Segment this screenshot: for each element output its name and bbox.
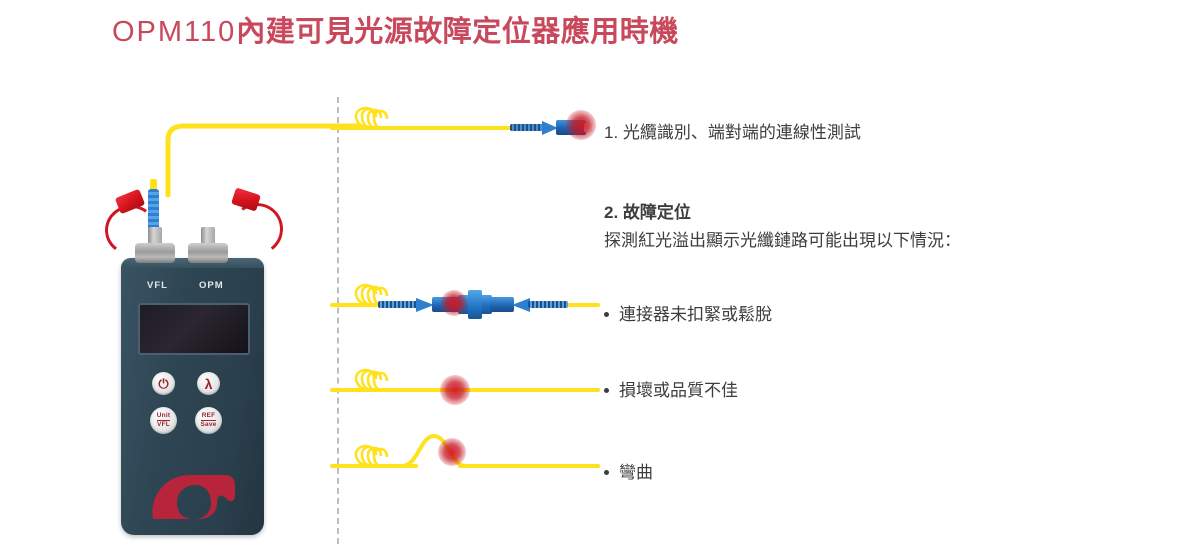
unit-vfl-button[interactable]: Unit VFL [150, 407, 177, 434]
ref-save-label: REF Save [201, 413, 217, 429]
dust-cap-right [231, 187, 261, 211]
bullet-3-label: 彎曲 [619, 463, 653, 482]
port-vfl-nut [135, 243, 175, 263]
page-title: OPM110內建可見光源故障定位器應用時機 [112, 8, 679, 50]
bullet-item-bend: 彎曲 [604, 460, 653, 486]
bullet-dot-icon [604, 312, 609, 317]
red-light-glow-loose-connector [441, 290, 467, 316]
red-light-glow-endface [566, 110, 596, 140]
mate-tail-left [378, 301, 418, 308]
page-title-text: 內建可見光源故障定位器應用時機 [236, 16, 679, 48]
bullet-item-loose-connector: 連接器未扣緊或鬆脫 [604, 302, 772, 328]
mate-plug-right [490, 297, 514, 312]
unit-vfl-label: Unit VFL [157, 413, 170, 429]
power-button[interactable]: ⏻ [152, 372, 175, 395]
ref-label: REF [201, 413, 217, 422]
jumper-connector-boot [148, 189, 159, 231]
red-light-glow-break [440, 375, 470, 405]
fiber-row4-right [458, 464, 600, 468]
device-display-screen [138, 303, 250, 355]
port-opm [188, 227, 228, 263]
diagram-row-end-to-end-test [330, 98, 600, 158]
power-icon: ⏻ [158, 377, 168, 390]
save-label: Save [201, 421, 217, 429]
sc-connector-tail [510, 124, 544, 131]
page-title-model: OPM110 [112, 16, 236, 48]
bullet-dot-icon [604, 470, 609, 475]
ref-save-button[interactable]: REF Save [195, 407, 222, 434]
mate-adapter-flange [468, 290, 482, 319]
unit-label: Unit [157, 413, 170, 422]
dust-cap-cord-right [228, 200, 287, 259]
wavelength-button[interactable]: λ [197, 372, 220, 395]
port-label-vfl: VFL [147, 280, 168, 291]
list-item-2-heading: 2. 故障定位 [604, 200, 691, 226]
red-light-glow-bend [438, 438, 466, 466]
signal-emission-icon [348, 106, 392, 130]
bullet-dot-icon [604, 388, 609, 393]
mate-tail-right [528, 301, 568, 308]
bullet-1-label: 連接器未扣緊或鬆脫 [619, 305, 772, 324]
device-illustration: VFL OPM ⏻ λ Unit VFL REF Save [105, 175, 285, 545]
bullet-item-damage: 損壞或品質不佳 [604, 378, 738, 404]
signal-emission-icon [348, 368, 392, 392]
brand-logo-icon [147, 465, 239, 520]
vfl-label: VFL [157, 421, 170, 429]
lambda-icon: λ [205, 377, 213, 391]
signal-emission-icon [348, 444, 392, 468]
list-item-1: 1. 光纜識別、端對端的連線性測試 [604, 120, 861, 146]
port-opm-nut [188, 243, 228, 263]
port-label-opm: OPM [199, 280, 224, 291]
list-item-2-subtext: 探測紅光溢出顯示光纖鏈路可能出現以下情況： [604, 228, 961, 254]
port-vfl [135, 227, 175, 263]
bullet-2-label: 損壞或品質不佳 [619, 381, 738, 400]
